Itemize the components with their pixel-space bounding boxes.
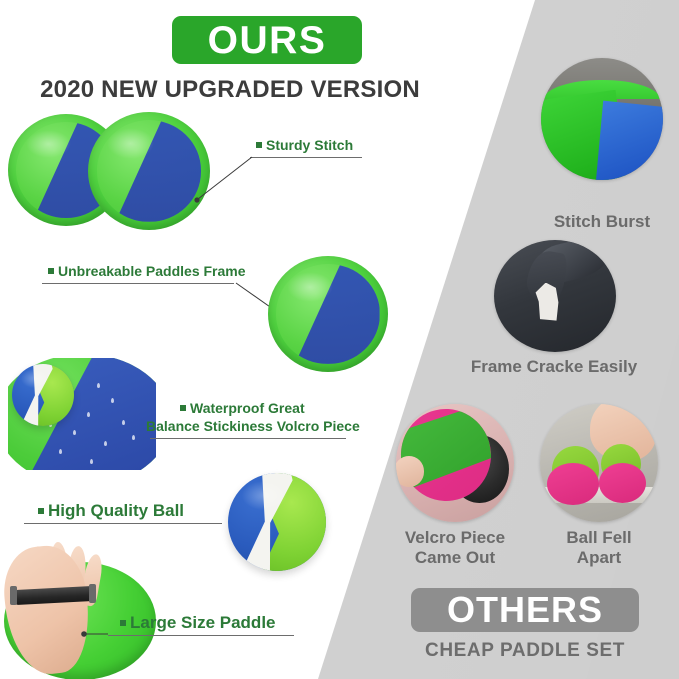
feature-label-balance-stickiness: Balance Stickiness Volcro Piece — [146, 418, 360, 436]
paddle-pair-front — [88, 112, 210, 230]
caption-ball-fell-apart: Ball Fell Apart — [524, 528, 674, 569]
feature-text: Waterproof Great — [190, 400, 305, 416]
paddle-face — [276, 264, 379, 364]
feature-text: Large Size Paddle — [130, 613, 276, 632]
caption-velcro-came-out: Velcro Piece Came Out — [372, 528, 538, 569]
feature-rule-sturdy-stitch — [250, 157, 362, 158]
ball-gloss — [242, 481, 287, 510]
bullet-icon — [38, 508, 44, 514]
caption-frame-crack: Frame Cracke Easily — [444, 357, 664, 377]
photo-frame-crack — [494, 240, 616, 352]
feature-rule-waterproof — [150, 438, 346, 439]
paddle-sheen — [26, 130, 71, 159]
paddle-face — [97, 120, 202, 222]
caption-line: Stitch Burst — [512, 212, 679, 232]
velcro-thumb — [396, 456, 424, 487]
paddle-sheen — [287, 272, 333, 302]
bullet-icon — [256, 142, 262, 148]
feature-rule-large-size-paddle — [108, 635, 294, 636]
caption-stitch-burst: Stitch Burst — [512, 212, 679, 232]
caption-line: Frame Cracke Easily — [444, 357, 664, 377]
feature-text: High Quality Ball — [48, 501, 184, 520]
feature-label-waterproof: Waterproof Great — [180, 400, 305, 418]
paddle-sheen — [107, 128, 154, 158]
high-quality-ball — [228, 473, 326, 571]
caption-line: Came Out — [372, 548, 538, 568]
strap-anchor-left — [10, 586, 17, 605]
photo-stitch-burst — [541, 58, 663, 180]
feature-text: Unbreakable Paddles Frame — [58, 263, 246, 279]
bullet-icon — [180, 405, 186, 411]
feature-label-sturdy-stitch: Sturdy Stitch — [256, 137, 353, 155]
ours-badge: OURS — [172, 16, 362, 64]
photo-velcro-came-out — [396, 404, 514, 522]
others-badge: OTHERS — [411, 588, 639, 632]
product-comparison-infographic: OURS 2020 NEW UPGRADED VERSION Sturdy St… — [0, 0, 679, 679]
feature-text: Sturdy Stitch — [266, 137, 353, 153]
feature-rule-high-quality-ball — [24, 523, 222, 524]
feature-label-unbreakable-frame: Unbreakable Paddles Frame — [48, 263, 246, 281]
bullet-icon — [48, 268, 54, 274]
bullet-icon — [120, 620, 126, 626]
others-badge-label: OTHERS — [447, 592, 603, 628]
ours-badge-label: OURS — [208, 21, 327, 60]
strap-anchor-right — [89, 584, 96, 603]
ball-photo-pink-shell-2 — [599, 463, 646, 503]
waterproof-paddle-photo — [8, 358, 156, 470]
ours-subtitle: 2020 NEW UPGRADED VERSION — [0, 76, 460, 104]
feature-label-large-size-paddle: Large Size Paddle — [120, 612, 276, 634]
feature-rule-unbreakable-frame — [42, 283, 234, 284]
others-subtitle: CHEAP PADDLE SET — [390, 640, 660, 662]
ball-gloss — [21, 369, 50, 388]
caption-line: Ball Fell — [524, 528, 674, 548]
stitch-burst-blue-fabric — [595, 95, 663, 180]
feature-text: Balance Stickiness Volcro Piece — [146, 418, 360, 434]
caption-line: Apart — [524, 548, 674, 568]
waterproof-ball — [12, 364, 74, 426]
feature-label-high-quality-ball: High Quality Ball — [38, 500, 184, 522]
photo-ball-fell-apart — [540, 404, 658, 522]
caption-line: Velcro Piece — [372, 528, 538, 548]
paddle-single-closeup — [268, 256, 388, 372]
